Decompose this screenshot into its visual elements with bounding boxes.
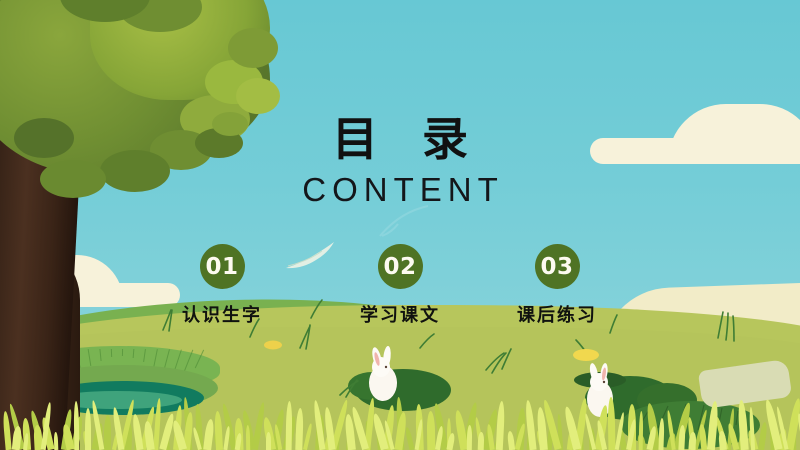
grass-blade [584, 413, 596, 450]
grass-blade [85, 408, 91, 450]
grass-blade [658, 418, 664, 450]
canopy-blob [228, 28, 278, 68]
grass-blade [639, 411, 644, 450]
grass-blade [467, 425, 472, 450]
content-label-02[interactable]: 学习课文 [330, 301, 470, 327]
grass-blade [303, 423, 313, 450]
content-number-badge-01[interactable]: 01 [200, 244, 245, 289]
grass-blade [506, 431, 514, 450]
grass-blade [719, 431, 728, 450]
content-item-02[interactable]: 02 学习课文 [330, 244, 470, 327]
grass-blade [104, 415, 112, 450]
grass-blade [749, 407, 755, 450]
grass-blade [214, 411, 223, 450]
content-number-badge-02[interactable]: 02 [378, 244, 423, 289]
grass-blade [608, 397, 616, 450]
canopy-blob [236, 78, 280, 114]
page-title-cn: 目 录 [0, 116, 800, 162]
grass-blade [296, 408, 304, 450]
grass-blade [496, 401, 506, 450]
grass-blade [266, 432, 271, 450]
foreground-grass [0, 380, 800, 450]
grass-blade [285, 401, 292, 450]
petal-right [573, 349, 599, 361]
content-label-01[interactable]: 认识生字 [152, 301, 292, 327]
grass-blade [698, 424, 707, 450]
petal-center [264, 341, 282, 350]
page-title-en: CONTENT [0, 170, 800, 210]
content-item-03[interactable]: 03 课后练习 [487, 244, 627, 327]
grass-blade [477, 432, 484, 450]
content-number-badge-03[interactable]: 03 [535, 244, 580, 289]
content-label-03[interactable]: 课后练习 [487, 301, 627, 327]
content-item-01[interactable]: 01 认识生字 [152, 244, 292, 327]
grass-blade [203, 419, 215, 450]
grass-blade [427, 411, 436, 450]
grass-blade [758, 422, 768, 450]
slide-canvas: 目 录 CONTENT 01 认识生字 02 学习课文 03 课后练习 [0, 0, 800, 450]
grass-blade [404, 427, 414, 450]
